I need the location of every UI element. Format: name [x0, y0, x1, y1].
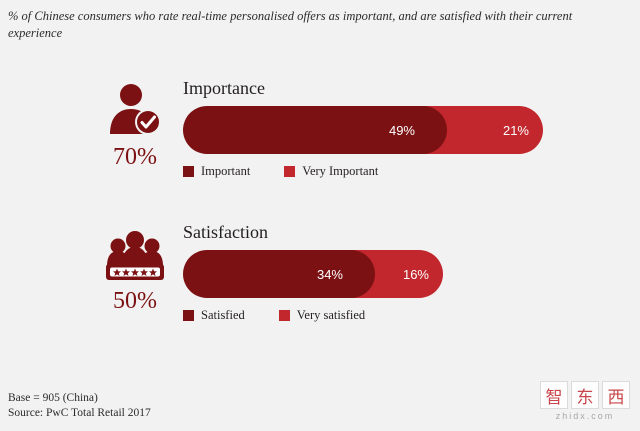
legend-label-very-satisfied: Very satisfied	[297, 308, 365, 323]
watermark-char-3: 西	[602, 381, 630, 409]
legend-label-satisfied: Satisfied	[201, 308, 245, 323]
legend-item-very-important: Very Important	[284, 164, 378, 179]
footer-base: Base = 905 (China)	[8, 391, 151, 406]
importance-total-percent: 70%	[95, 144, 175, 171]
chart-page: % of Chinese consumers who rate real-tim…	[0, 0, 640, 431]
footer-source: Source: PwC Total Retail 2017	[8, 406, 151, 421]
legend-item-very-satisfied: Very satisfied	[279, 308, 365, 323]
satisfaction-segment-satisfied: 34%	[183, 250, 357, 298]
satisfaction-segment-very-satisfied-label: 16%	[403, 267, 443, 282]
satisfaction-title: Satisfaction	[183, 222, 603, 242]
importance-bar: 49% 21%	[183, 106, 543, 154]
legend-label-very-important: Very Important	[302, 164, 378, 179]
importance-chart: Importance 49% 21% Important Very Import…	[183, 78, 603, 179]
importance-segment-very-important-label: 21%	[503, 123, 543, 138]
people-stars-icon	[95, 222, 175, 284]
importance-summary: 70%	[95, 78, 175, 171]
satisfaction-segment-satisfied-label: 34%	[317, 267, 357, 282]
importance-legend: Important Very Important	[183, 164, 603, 179]
watermark-char-1: 智	[540, 381, 568, 409]
legend-label-important: Important	[201, 164, 250, 179]
satisfaction-legend: Satisfied Very satisfied	[183, 308, 603, 323]
importance-segment-important: 49%	[183, 106, 429, 154]
legend-item-important: Important	[183, 164, 250, 179]
person-check-icon	[95, 78, 175, 140]
watermark-text: zhidx.com	[540, 411, 630, 421]
importance-segment-important-label: 49%	[389, 123, 429, 138]
satisfaction-total-percent: 50%	[95, 288, 175, 315]
footer-notes: Base = 905 (China) Source: PwC Total Ret…	[8, 391, 151, 421]
legend-swatch-dark-icon	[183, 310, 194, 321]
satisfaction-bar: 34% 16%	[183, 250, 543, 298]
legend-swatch-light-icon	[284, 166, 295, 177]
legend-item-satisfied: Satisfied	[183, 308, 245, 323]
legend-swatch-dark-icon	[183, 166, 194, 177]
satisfaction-summary: 50%	[95, 222, 175, 315]
watermark-char-2: 东	[571, 381, 599, 409]
page-title: % of Chinese consumers who rate real-tim…	[8, 8, 614, 42]
importance-title: Importance	[183, 78, 603, 98]
watermark: 智 东 西 zhidx.com	[540, 381, 630, 421]
satisfaction-chart: Satisfaction 34% 16% Satisfied Very sati…	[183, 222, 603, 323]
watermark-logo-icon: 智 东 西	[540, 381, 630, 409]
legend-swatch-light-icon	[279, 310, 290, 321]
